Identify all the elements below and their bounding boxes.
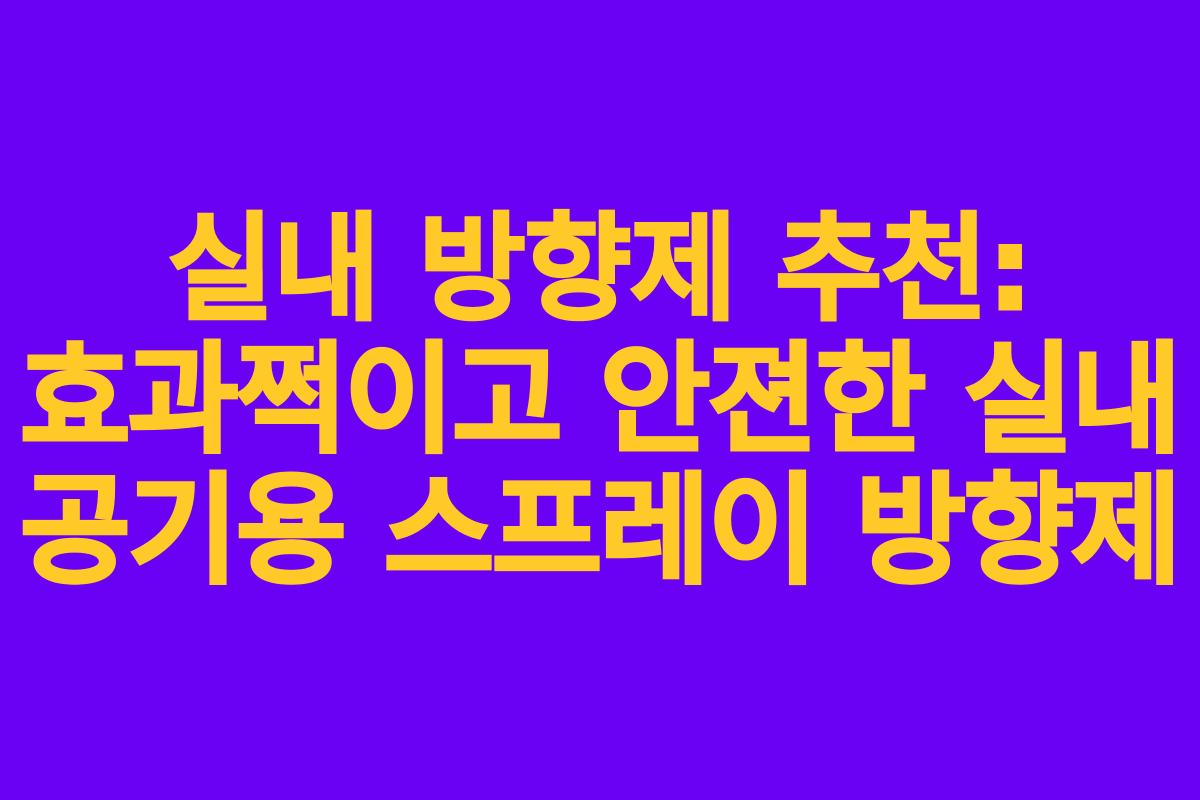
title-line-3: 공기용 스프레이 방향제	[20, 466, 1179, 597]
title-banner: 실내 방향제 추천: 효과쩍이고 안젼한 실내 공기용 스프레이 방향제	[0, 0, 1200, 800]
page-title: 실내 방향제 추천: 효과쩍이고 안젼한 실내 공기용 스프레이 방향제	[0, 204, 1200, 597]
title-line-1: 실내 방향제 추천:	[168, 204, 1033, 335]
title-line-2: 효과쩍이고 안젼한 실내	[20, 335, 1179, 466]
